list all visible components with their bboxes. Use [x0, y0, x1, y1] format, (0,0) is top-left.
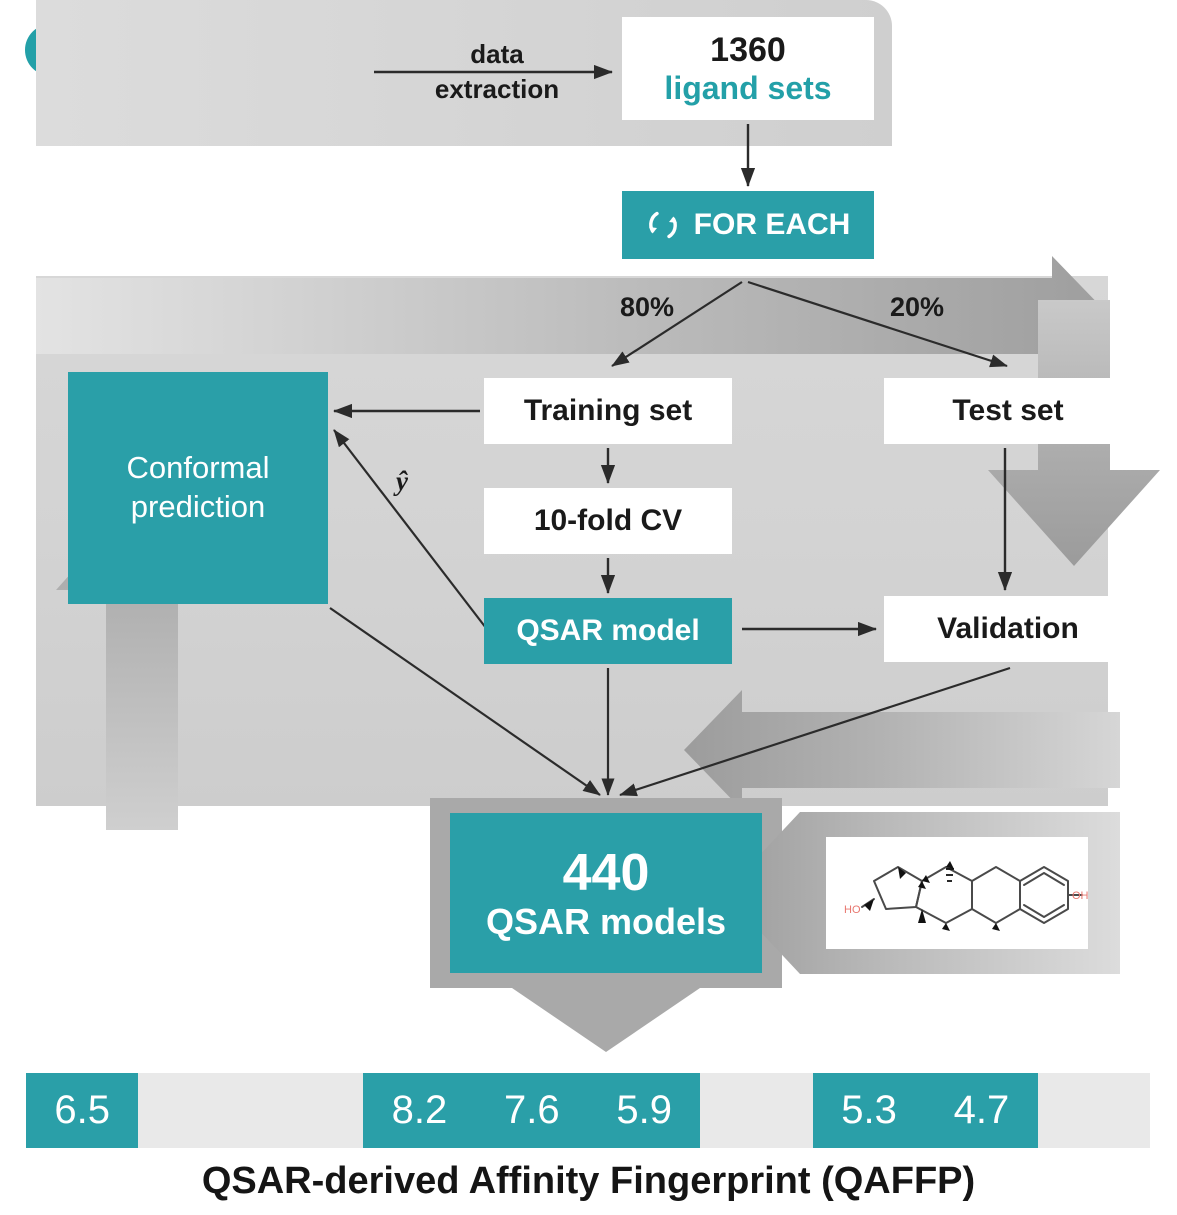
qaffp-fingerprint-row: 6.58.27.65.95.34.7: [26, 1073, 1150, 1148]
molecule-left-label: HO: [844, 904, 861, 916]
models-label: QSAR models: [486, 902, 726, 942]
data-extraction-label: data extraction: [372, 22, 622, 122]
for-each-label: FOR EACH: [694, 208, 851, 242]
fingerprint-cell: 8.2: [363, 1073, 475, 1148]
split-label-20: 20%: [890, 292, 944, 323]
fingerprint-cell: 5.3: [813, 1073, 925, 1148]
cross-validation-box: 10-fold CV: [484, 488, 732, 554]
validation-box: Validation: [884, 596, 1132, 662]
fingerprint-cell: 5.9: [588, 1073, 700, 1148]
fingerprint-cell: [700, 1073, 812, 1148]
ligand-sets-box: 1360 ligand sets: [622, 17, 874, 120]
for-each-box: FOR EACH: [622, 191, 874, 259]
extraction-line-2: extraction: [435, 72, 559, 107]
molecule-card: HO OH: [826, 837, 1088, 949]
estradiol-structure-icon: HO OH: [826, 837, 1088, 949]
fingerprint-caption: QSAR-derived Affinity Fingerprint (QAFFP…: [0, 1160, 1177, 1203]
extraction-line-1: data: [470, 37, 523, 72]
models-count: 440: [563, 845, 650, 902]
fingerprint-cell: 4.7: [925, 1073, 1037, 1148]
training-set-box: Training set: [484, 378, 732, 444]
models-count-box: 440 QSAR models: [450, 813, 762, 973]
conformal-line-2: prediction: [131, 488, 265, 527]
ligand-sets-label: ligand sets: [664, 70, 831, 107]
conformal-line-1: Conformal: [127, 449, 270, 488]
fingerprint-cell: [251, 1073, 363, 1148]
qsar-model-box: QSAR model: [484, 598, 732, 664]
test-set-box: Test set: [884, 378, 1132, 444]
fingerprint-cell: 6.5: [26, 1073, 138, 1148]
conformal-prediction-box: Conformal prediction: [68, 372, 328, 604]
loop-refresh-icon: [646, 208, 680, 242]
fingerprint-cell: [138, 1073, 250, 1148]
workflow-diagram: ChEMBL data extraction 1360 ligand sets …: [0, 0, 1177, 1215]
fingerprint-cell: 7.6: [476, 1073, 588, 1148]
fingerprint-cell: [1038, 1073, 1150, 1148]
yhat-label: ŷ: [396, 466, 408, 497]
molecule-right-label: OH: [1072, 890, 1088, 902]
ligand-sets-count: 1360: [710, 31, 786, 70]
split-label-80: 80%: [620, 292, 674, 323]
